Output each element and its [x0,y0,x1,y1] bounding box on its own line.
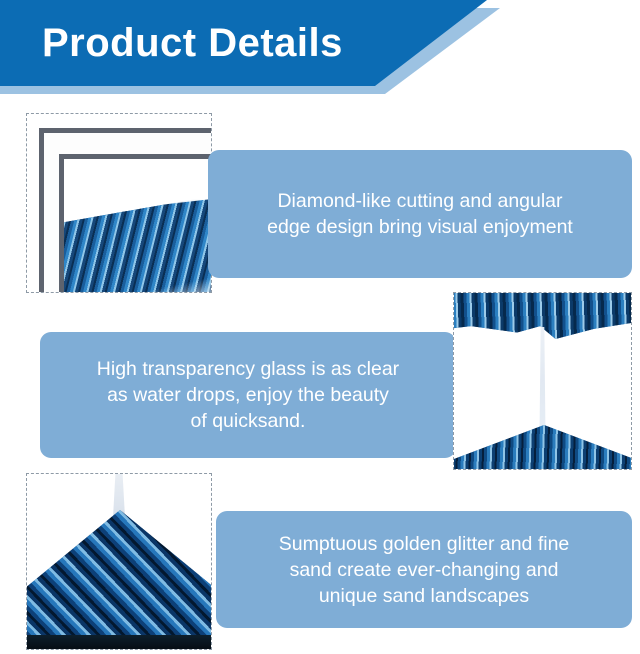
caption-3-line-1: Sumptuous golden glitter and fine [279,531,570,557]
sand-base-shadow [27,635,212,649]
sand-mountain-landscape-photo [26,473,212,650]
caption-2-line-2: as water drops, enjoy the beauty [97,382,399,408]
caption-1-text: Diamond-like cutting and angular edge de… [267,188,573,240]
caption-1-line-2: edge design bring visual enjoyment [267,214,573,240]
sand-art-frame-corner-photo [26,113,212,293]
caption-3-line-2: sand create ever-changing and [279,557,570,583]
page-title: Product Details [42,16,343,70]
caption-3-text: Sumptuous golden glitter and fine sand c… [279,531,570,609]
caption-2-line-3: of quicksand. [97,408,399,434]
caption-2-line-1: High transparency glass is as clear [97,356,399,382]
header-banner: Product Details [0,0,520,96]
caption-3-line-3: unique sand landscapes [279,583,570,609]
layered-sand-mountain [26,510,212,650]
caption-box-2: High transparency glass is as clear as w… [40,332,456,458]
caption-box-1: Diamond-like cutting and angular edge de… [208,150,632,278]
lower-sand-pile [453,425,632,469]
caption-box-3: Sumptuous golden glitter and fine sand c… [216,511,632,628]
glass-panel-shape [64,159,212,293]
falling-sand-stream-photo [453,292,632,470]
caption-1-line-1: Diamond-like cutting and angular [267,188,573,214]
caption-2-text: High transparency glass is as clear as w… [97,356,399,434]
